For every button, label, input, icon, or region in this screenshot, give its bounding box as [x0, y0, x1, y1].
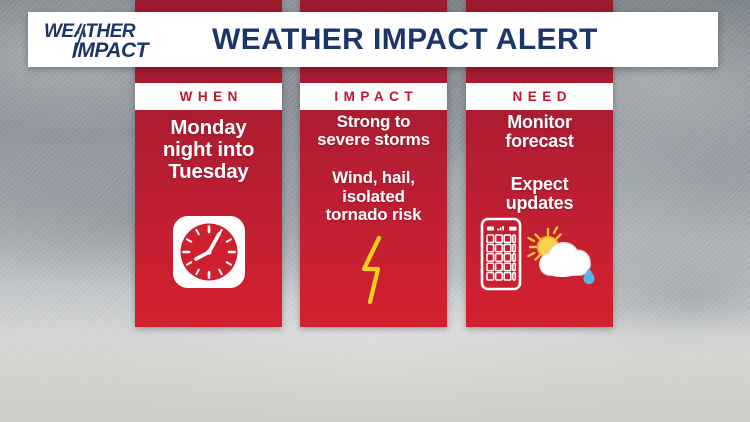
smartphone-icon: [480, 217, 522, 291]
panel-impact-line-5: tornado risk: [304, 206, 443, 224]
panel-impact-icon-row: [304, 235, 443, 307]
panel-need-text-2: Expect updates: [470, 175, 609, 214]
lightning-bolt-icon: [351, 235, 397, 307]
panel-need-line-1: Monitor: [470, 113, 609, 132]
panel-impact-text-2: Wind, hail, isolated tornado risk: [304, 169, 443, 224]
panel-when-line-1: Monday: [139, 117, 278, 139]
sun-cloud-rain-icon: [526, 225, 604, 289]
panel-need-icon-row: [470, 217, 609, 291]
panel-need-line-2: forecast: [470, 132, 609, 151]
panel-when-line-3: Tuesday: [139, 161, 278, 183]
logo-line-2: IMPACT: [72, 39, 151, 62]
horizon-haze: [0, 312, 750, 422]
panel-impact-body: Strong to severe storms Wind, hail, isol…: [304, 113, 443, 321]
panel-when-line-2: night into: [139, 139, 278, 161]
panel-when-body: Monday night into Tuesday: [139, 113, 278, 321]
panel-impact-line-2: severe storms: [304, 131, 443, 149]
panel-when-header: WHEN: [135, 83, 282, 110]
panel-when-icon-row: [139, 215, 278, 289]
weather-alert-graphic: WHEN Monday night into Tuesday: [0, 0, 750, 422]
panel-need-line-4: updates: [470, 194, 609, 213]
panel-need-body: Monitor forecast Expect updates: [470, 113, 609, 321]
panel-when-header-label: WHEN: [174, 90, 243, 104]
page-title: WEATHER IMPACT ALERT: [212, 23, 598, 57]
title-bar: WEATHER IMPACT WEATHER IMPACT ALERT: [28, 12, 718, 67]
panel-need-header-label: NEED: [507, 90, 572, 104]
panel-need-header: NEED: [466, 83, 613, 110]
panel-when-text: Monday night into Tuesday: [139, 117, 278, 183]
panel-impact-line-3: Wind, hail,: [304, 169, 443, 187]
panel-impact-line-1: Strong to: [304, 113, 443, 131]
panel-impact-header: IMPACT: [300, 83, 447, 110]
logo-mark: WEATHER IMPACT: [40, 18, 188, 62]
panel-impact-line-4: isolated: [304, 188, 443, 206]
panel-impact-text-1: Strong to severe storms: [304, 113, 443, 149]
panel-need-text-1: Monitor forecast: [470, 113, 609, 152]
weather-impact-logo: WEATHER IMPACT: [40, 18, 188, 62]
clock-icon: [172, 215, 246, 289]
panel-impact-header-label: IMPACT: [329, 90, 418, 104]
panel-need-line-3: Expect: [470, 175, 609, 194]
